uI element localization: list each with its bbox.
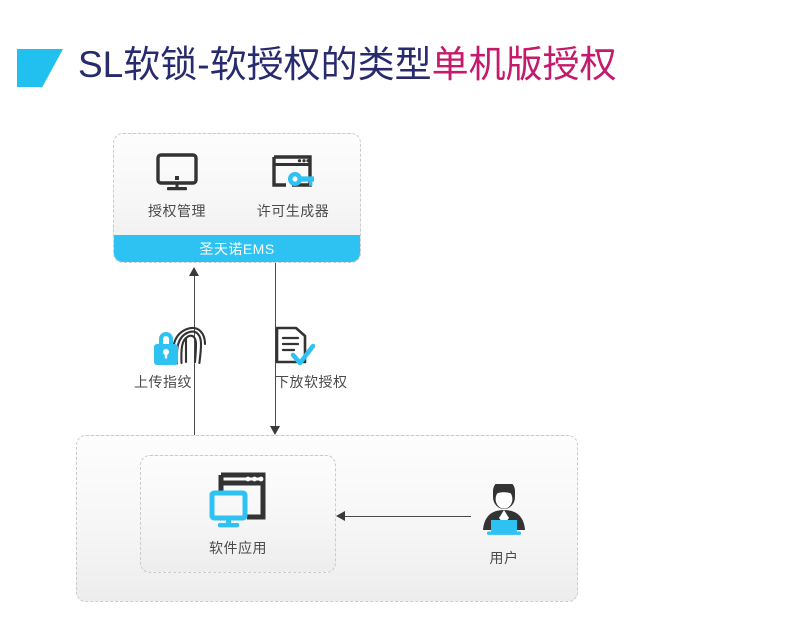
user-block[interactable]: 用户	[468, 484, 540, 568]
deliver-flow-arrowhead	[270, 426, 280, 435]
ems-item-label: 许可生成器	[238, 201, 348, 221]
ems-card-body: 授权管理 许可生成器	[114, 134, 360, 231]
deliver-flow-label: 下放软授权	[275, 372, 348, 392]
upload-flow-arrowhead	[189, 267, 199, 276]
ems-item-license-management[interactable]: 授权管理	[122, 150, 232, 221]
ems-card: 授权管理 许可生成器	[113, 133, 361, 263]
ems-item-label: 授权管理	[122, 201, 232, 221]
software-application-label: 软件应用	[141, 538, 335, 558]
page-title-accent: 单机版授权	[432, 44, 617, 85]
monitor-icon	[122, 150, 232, 196]
user-label: 用户	[468, 548, 540, 568]
upload-flow-label: 上传指纹	[134, 372, 192, 392]
browser-key-icon	[238, 150, 348, 196]
page-title-main: SL软锁-软授权的类型	[78, 44, 432, 85]
user-to-app-line	[344, 516, 471, 517]
ems-banner: 圣天诺EMS	[114, 235, 360, 262]
ems-item-license-generator[interactable]: 许可生成器	[238, 150, 348, 221]
page-header: SL软锁-软授权的类型单机版授权	[0, 22, 790, 82]
cyan-parallelogram-icon	[17, 49, 63, 87]
browser-monitor-icon	[141, 469, 335, 531]
lock-fingerprint-icon	[152, 322, 206, 375]
software-application-card[interactable]: 软件应用	[140, 455, 336, 573]
document-check-icon	[274, 326, 316, 375]
page-title: SL软锁-软授权的类型单机版授权	[78, 42, 617, 88]
user-laptop-icon	[468, 484, 540, 545]
left-arrow-icon	[336, 511, 345, 521]
ems-banner-label: 圣天诺EMS	[199, 239, 274, 259]
